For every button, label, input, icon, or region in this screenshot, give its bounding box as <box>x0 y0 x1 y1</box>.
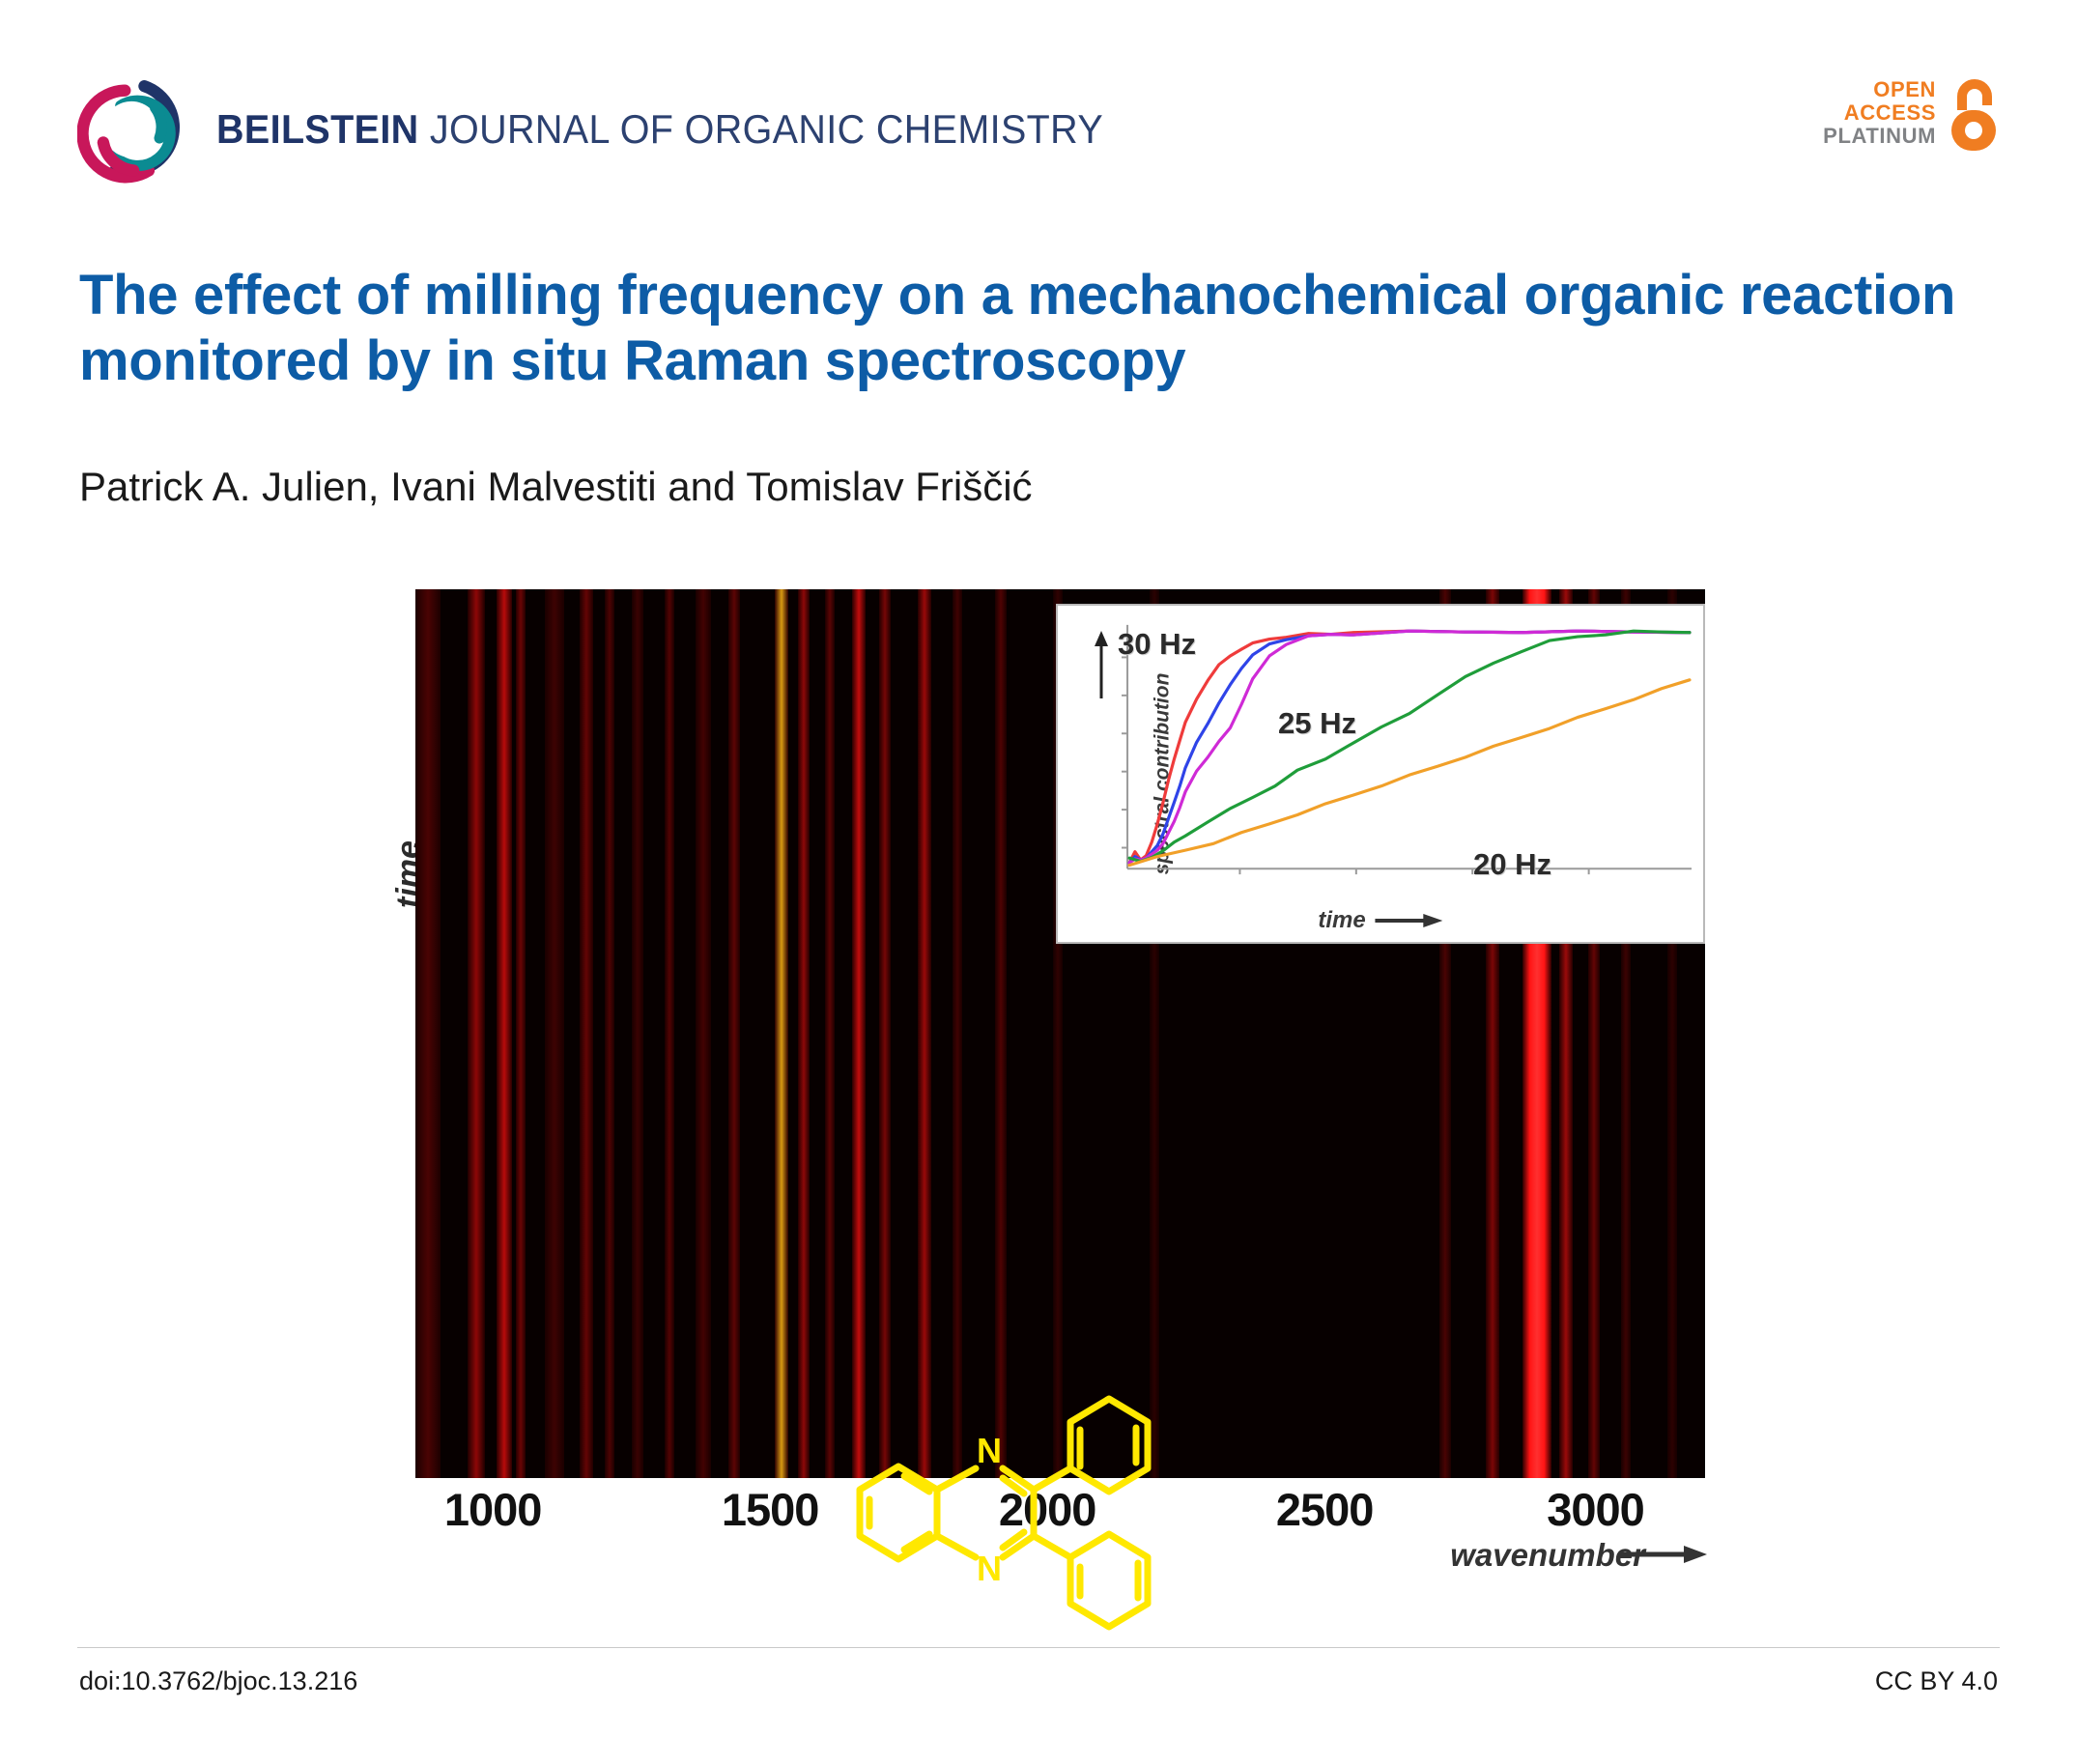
author-list: Patrick A. Julien, Ivani Malvestiti and … <box>79 464 1033 510</box>
open-padlock-icon <box>1946 73 2002 153</box>
open-access-badge: OPEN ACCESS PLATINUM <box>1823 73 2002 153</box>
inset-x-arrow-icon <box>1376 913 1443 928</box>
journal-masthead: BEILSTEIN JOURNAL OF ORGANIC CHEMISTRY <box>77 75 1160 184</box>
molecule-product-diphenylquinoxaline: N N <box>840 1362 1246 1681</box>
wavenumber-tick: 1000 <box>444 1483 542 1536</box>
inset-kinetics-chart: spectral contribution <box>1056 604 1705 944</box>
inset-x-axis-label-group: time <box>1318 907 1442 934</box>
inset-curve <box>1129 631 1690 861</box>
journal-title-bold: BEILSTEIN <box>216 106 419 152</box>
wavenumber-tick: 3000 <box>1547 1483 1644 1536</box>
annotation-25hz: 25 Hz <box>1278 706 1356 741</box>
atom-label-n-top: N <box>977 1431 1002 1470</box>
open-access-line-open: OPEN <box>1823 78 1936 101</box>
wavenumber-tick: 2500 <box>1276 1483 1374 1536</box>
inset-curve <box>1129 631 1690 863</box>
atom-label-n-bottom: N <box>977 1549 1002 1588</box>
wavenumber-tick: 1500 <box>722 1483 819 1536</box>
inset-plot-area <box>1114 619 1695 882</box>
annotation-30hz: 30 Hz <box>1118 627 1196 662</box>
journal-title-light: JOURNAL OF ORGANIC CHEMISTRY <box>419 106 1103 152</box>
molecule-reactants-group: NH2 NH2 <box>1285 1758 2058 1764</box>
wavenumber-arrow-icon <box>1618 1545 1707 1564</box>
footer-divider <box>77 1647 2000 1648</box>
open-access-line-platinum: PLATINUM <box>1823 125 1936 148</box>
annotation-20hz: 20 Hz <box>1473 847 1551 882</box>
open-access-words: OPEN ACCESS PLATINUM <box>1823 78 1936 147</box>
license-text: CC BY 4.0 <box>1875 1666 1998 1696</box>
inset-curve <box>1129 680 1690 866</box>
wavenumber-axis-label: wavenumber <box>1450 1537 1645 1574</box>
page-title: The effect of milling frequency on a mec… <box>79 263 2002 394</box>
doi-text: doi:10.3762/bjoc.13.216 <box>79 1666 357 1696</box>
inset-curve-group <box>1129 631 1690 865</box>
graphical-abstract-page: BEILSTEIN JOURNAL OF ORGANIC CHEMISTRY O… <box>0 0 2077 1764</box>
journal-title: BEILSTEIN JOURNAL OF ORGANIC CHEMISTRY <box>216 106 1103 153</box>
open-access-line-access: ACCESS <box>1823 101 1936 125</box>
beilstein-circles-logo-icon <box>77 75 185 184</box>
inset-y-arrow-icon <box>1093 631 1110 700</box>
inset-x-axis-label: time <box>1318 907 1365 934</box>
